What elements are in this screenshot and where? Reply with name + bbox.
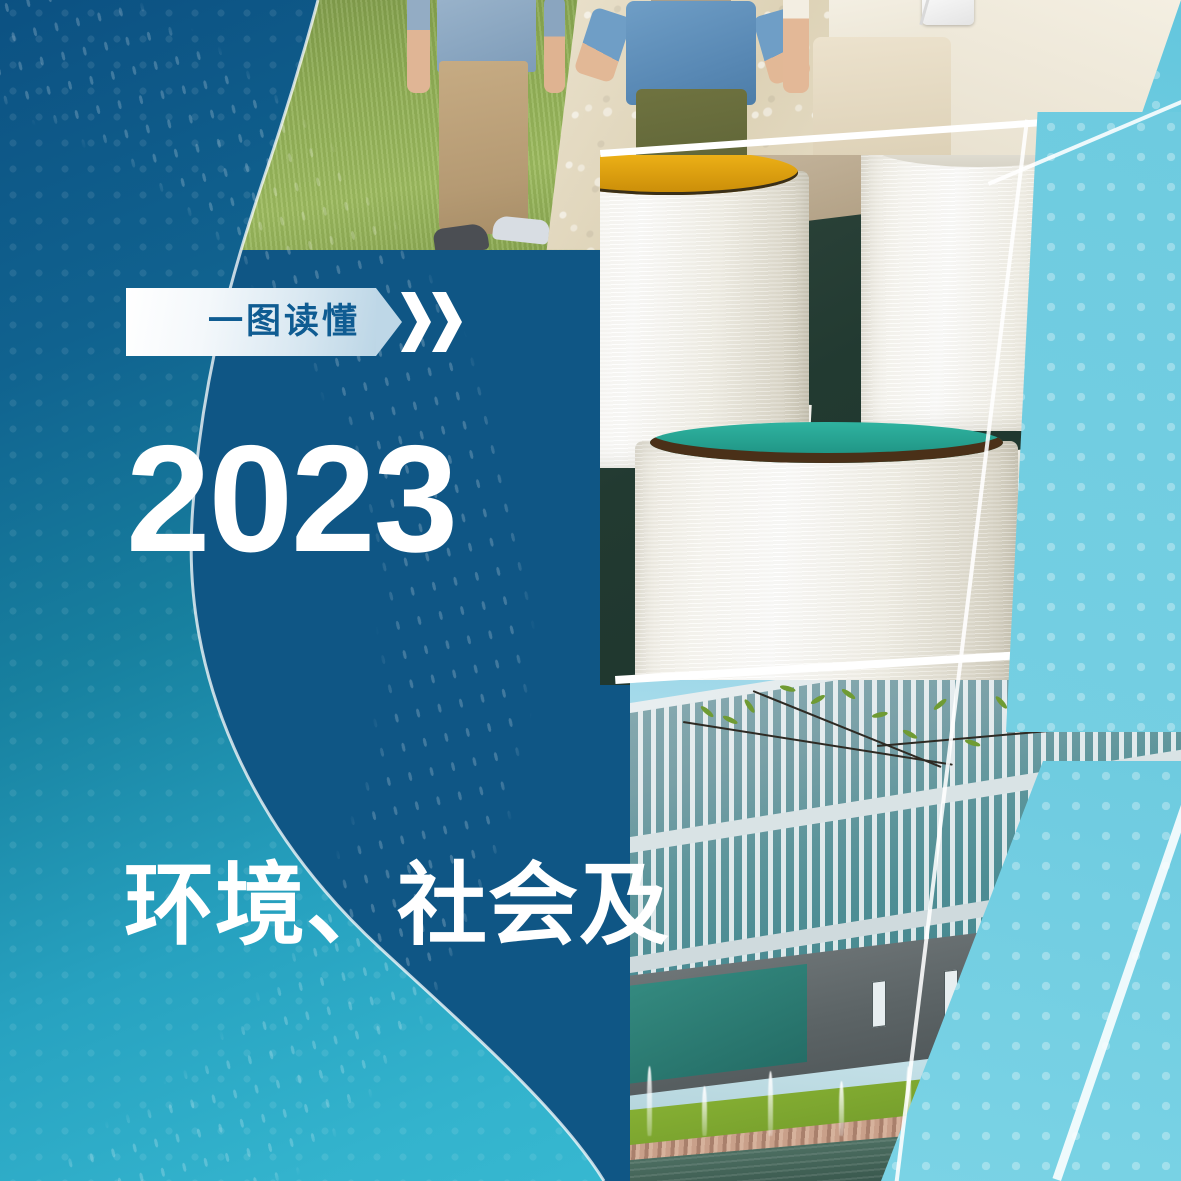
yitu-dudong-badge[interactable]: 一图读懂	[126, 288, 376, 356]
chevron-right-icon	[432, 292, 462, 352]
chevron-right-icon	[401, 292, 431, 352]
badge-label: 一图读懂	[208, 305, 360, 340]
page-title: 环境、社会及 公司治理 （ESG）报告	[124, 607, 691, 1181]
badge-plate: 一图读懂	[126, 288, 376, 356]
title-line-1: 环境、社会及	[124, 846, 691, 966]
esg-report-poster: 一图读懂 2023 环境、社会及 公司治理 （ESG）报告	[0, 0, 1181, 1181]
report-year: 2023	[126, 427, 456, 571]
handbag	[922, 0, 975, 25]
